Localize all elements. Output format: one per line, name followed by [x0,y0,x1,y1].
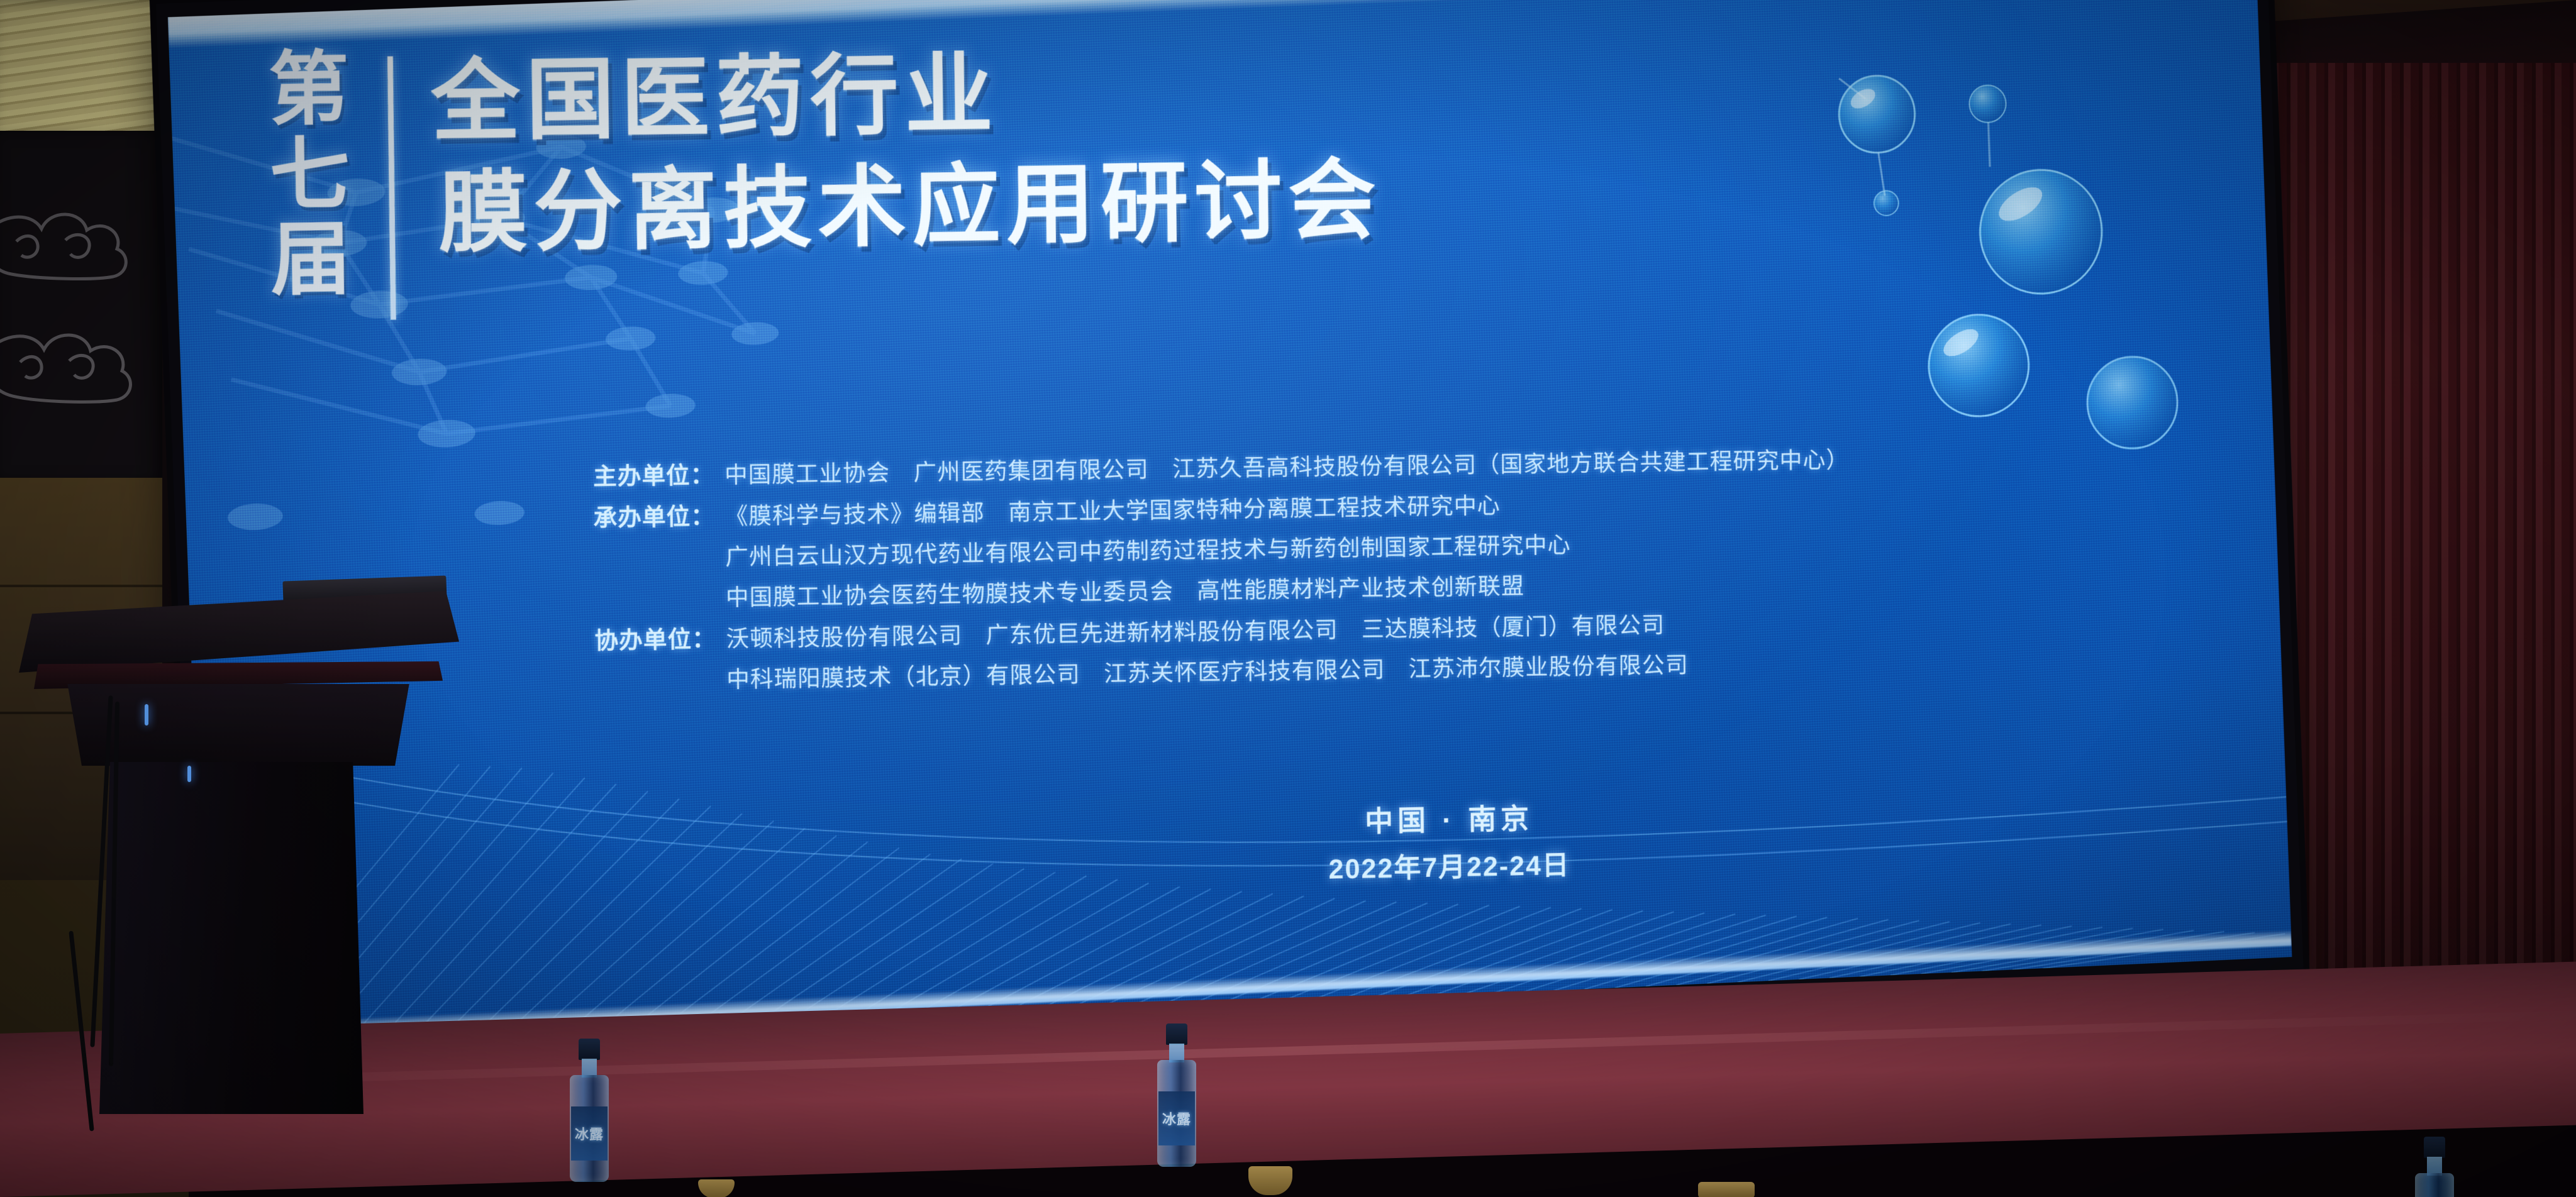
banner-hero: 第 七 届 全国医药行业 膜分离技术应用研讨会 [268,18,2216,432]
credit-label: 协办单位： [577,619,726,656]
podium-body [99,762,364,1114]
bottle-cap [579,1039,600,1060]
bottle-label: 冰露 [571,1106,608,1161]
bottle-label: 冰露 [1158,1091,1195,1145]
banner-title: 全国医药行业 膜分离技术应用研讨会 [430,29,1382,260]
event-date: 2022年7月22-24日 [1328,842,1570,886]
tea-cup [1248,1166,1292,1195]
podium-indicator-light [145,704,148,725]
vertical-divider [387,57,396,320]
louver-panel [0,0,170,135]
place-date-block: 中国 · 南京 2022年7月22-24日 [1328,795,1570,886]
credit-value: 沃顿科技股份有限公司 广东优巨先进新材料股份有限公司 三达膜科技（厦门）有限公司 [726,606,1665,654]
table-object [1698,1182,1755,1197]
credit-label: 承办单位： [577,497,725,533]
credits-block: 主办单位： 中国膜工业协会 广州医药集团有限公司 江苏久吾高科技股份有限公司（国… [576,436,2118,697]
ordinal-char-3: 届 [270,217,353,303]
ordinal-char-2: 七 [269,132,352,218]
screen-surface: 第 七 届 全国医药行业 膜分离技术应用研讨会 主办单位： 中国膜工业协会 广州… [168,0,2292,1052]
photo-scene: 第 七 届 全国医药行业 膜分离技术应用研讨会 主办单位： 中国膜工业协会 广州… [0,0,2576,1197]
bottle-cap [2424,1137,2445,1158]
tea-cup [698,1179,735,1197]
banner-content: 第 七 届 全国医药行业 膜分离技术应用研讨会 主办单位： 中国膜工业协会 广州… [168,0,2292,1052]
podium [19,578,484,1144]
edition-ordinal: 第 七 届 [268,41,353,303]
cloud-motif-panel [0,131,165,483]
title-line-2: 膜分离技术应用研讨会 [438,154,1383,260]
credit-value: 中科瑞阳膜技术（北京）有限公司 江苏关怀医疗科技有限公司 江苏沛尔膜业股份有限公… [726,646,1689,694]
credit-value: 中国膜工业协会医药生物膜技术专业委员会 高性能膜材料产业技术创新联盟 [726,567,1525,612]
event-place: 中国 · 南京 [1328,795,1570,841]
credit-value: 《膜科学与技术》编辑部 南京工业大学国家特种分离膜工程技术研究中心 [724,487,1501,531]
podium-indicator-light [187,766,191,782]
bottle-body [2415,1173,2454,1197]
ordinal-char-1: 第 [268,47,350,133]
title-line-1: 全国医药行业 [431,44,1382,148]
podium-top [19,591,459,673]
bottle-cap [1166,1023,1187,1045]
credit-value: 中国膜工业协会 广州医药集团有限公司 江苏久吾高科技股份有限公司（国家地方联合共… [724,441,1850,490]
credit-label: 主办单位： [576,455,724,492]
cloud-motif-icon [0,131,165,483]
credit-value: 广州白云山汉方现代药业有限公司中药制药过程技术与新药创制国家工程研究中心 [725,526,1571,572]
